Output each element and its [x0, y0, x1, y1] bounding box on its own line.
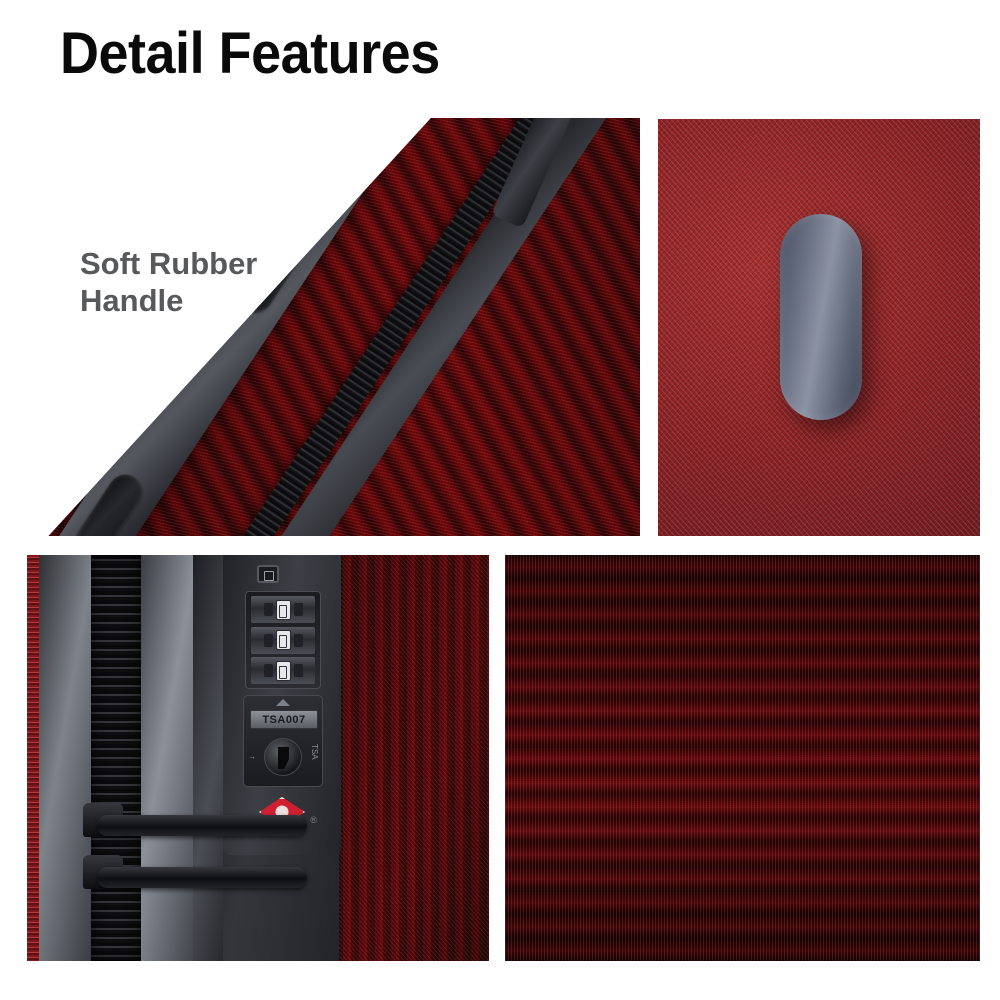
combination-dial-3[interactable] [251, 657, 315, 684]
handle-photo [20, 118, 640, 536]
tsa-standard-label: TSA007 [250, 710, 318, 729]
panel-precision-zipper: TSA007 → TSA ® Precision Zipper [27, 555, 489, 961]
lock-label-plate [257, 565, 279, 583]
dial-tick-right-icon [294, 634, 303, 647]
abs-material-photo [505, 555, 980, 961]
zipper-pull-upper[interactable] [97, 815, 307, 836]
zipper-tape-left [39, 555, 91, 961]
zipper-tape-right [141, 555, 193, 961]
combination-dials[interactable] [245, 591, 321, 689]
shell-edge-strip [27, 555, 39, 961]
combination-dial-1[interactable] [251, 596, 315, 623]
key-side-label: TSA [310, 744, 319, 760]
tsa-lock: TSA007 → TSA ® [223, 555, 341, 855]
support-point-stud [780, 214, 862, 420]
dial-tick-left-icon [264, 664, 273, 677]
dial-digit-3 [276, 661, 291, 681]
key-arrow-left-icon: → [248, 752, 256, 761]
zipper-photo: TSA007 → TSA ® [27, 555, 489, 961]
combination-dial-2[interactable] [251, 627, 315, 654]
zipper-teeth [91, 555, 141, 961]
dial-digit-2 [276, 630, 291, 650]
dial-tick-right-icon [294, 664, 303, 677]
keyhole-icon[interactable] [264, 738, 302, 776]
dial-tick-left-icon [264, 603, 273, 616]
panel-stable-support-points: Stable Support Points [658, 119, 980, 536]
panel-abs-material: High-Quality ABS Material [505, 555, 980, 961]
registered-mark: ® [310, 815, 317, 825]
infographic-page: Detail Features Soft Rubber Handle Stabl… [0, 0, 1000, 1000]
zipper-pull-lower[interactable] [97, 867, 307, 888]
page-title: Detail Features [60, 24, 440, 85]
caption-soft-rubber-handle: Soft Rubber Handle [80, 246, 257, 319]
dial-tick-left-icon [264, 634, 273, 647]
red-shell-fabric [339, 555, 489, 961]
dial-tick-right-icon [294, 603, 303, 616]
dial-digit-1 [276, 600, 291, 620]
panel-soft-rubber-handle: Soft Rubber Handle [20, 118, 640, 536]
lock-key-plate: TSA007 → TSA [243, 695, 323, 787]
release-arrow-icon [276, 699, 290, 706]
